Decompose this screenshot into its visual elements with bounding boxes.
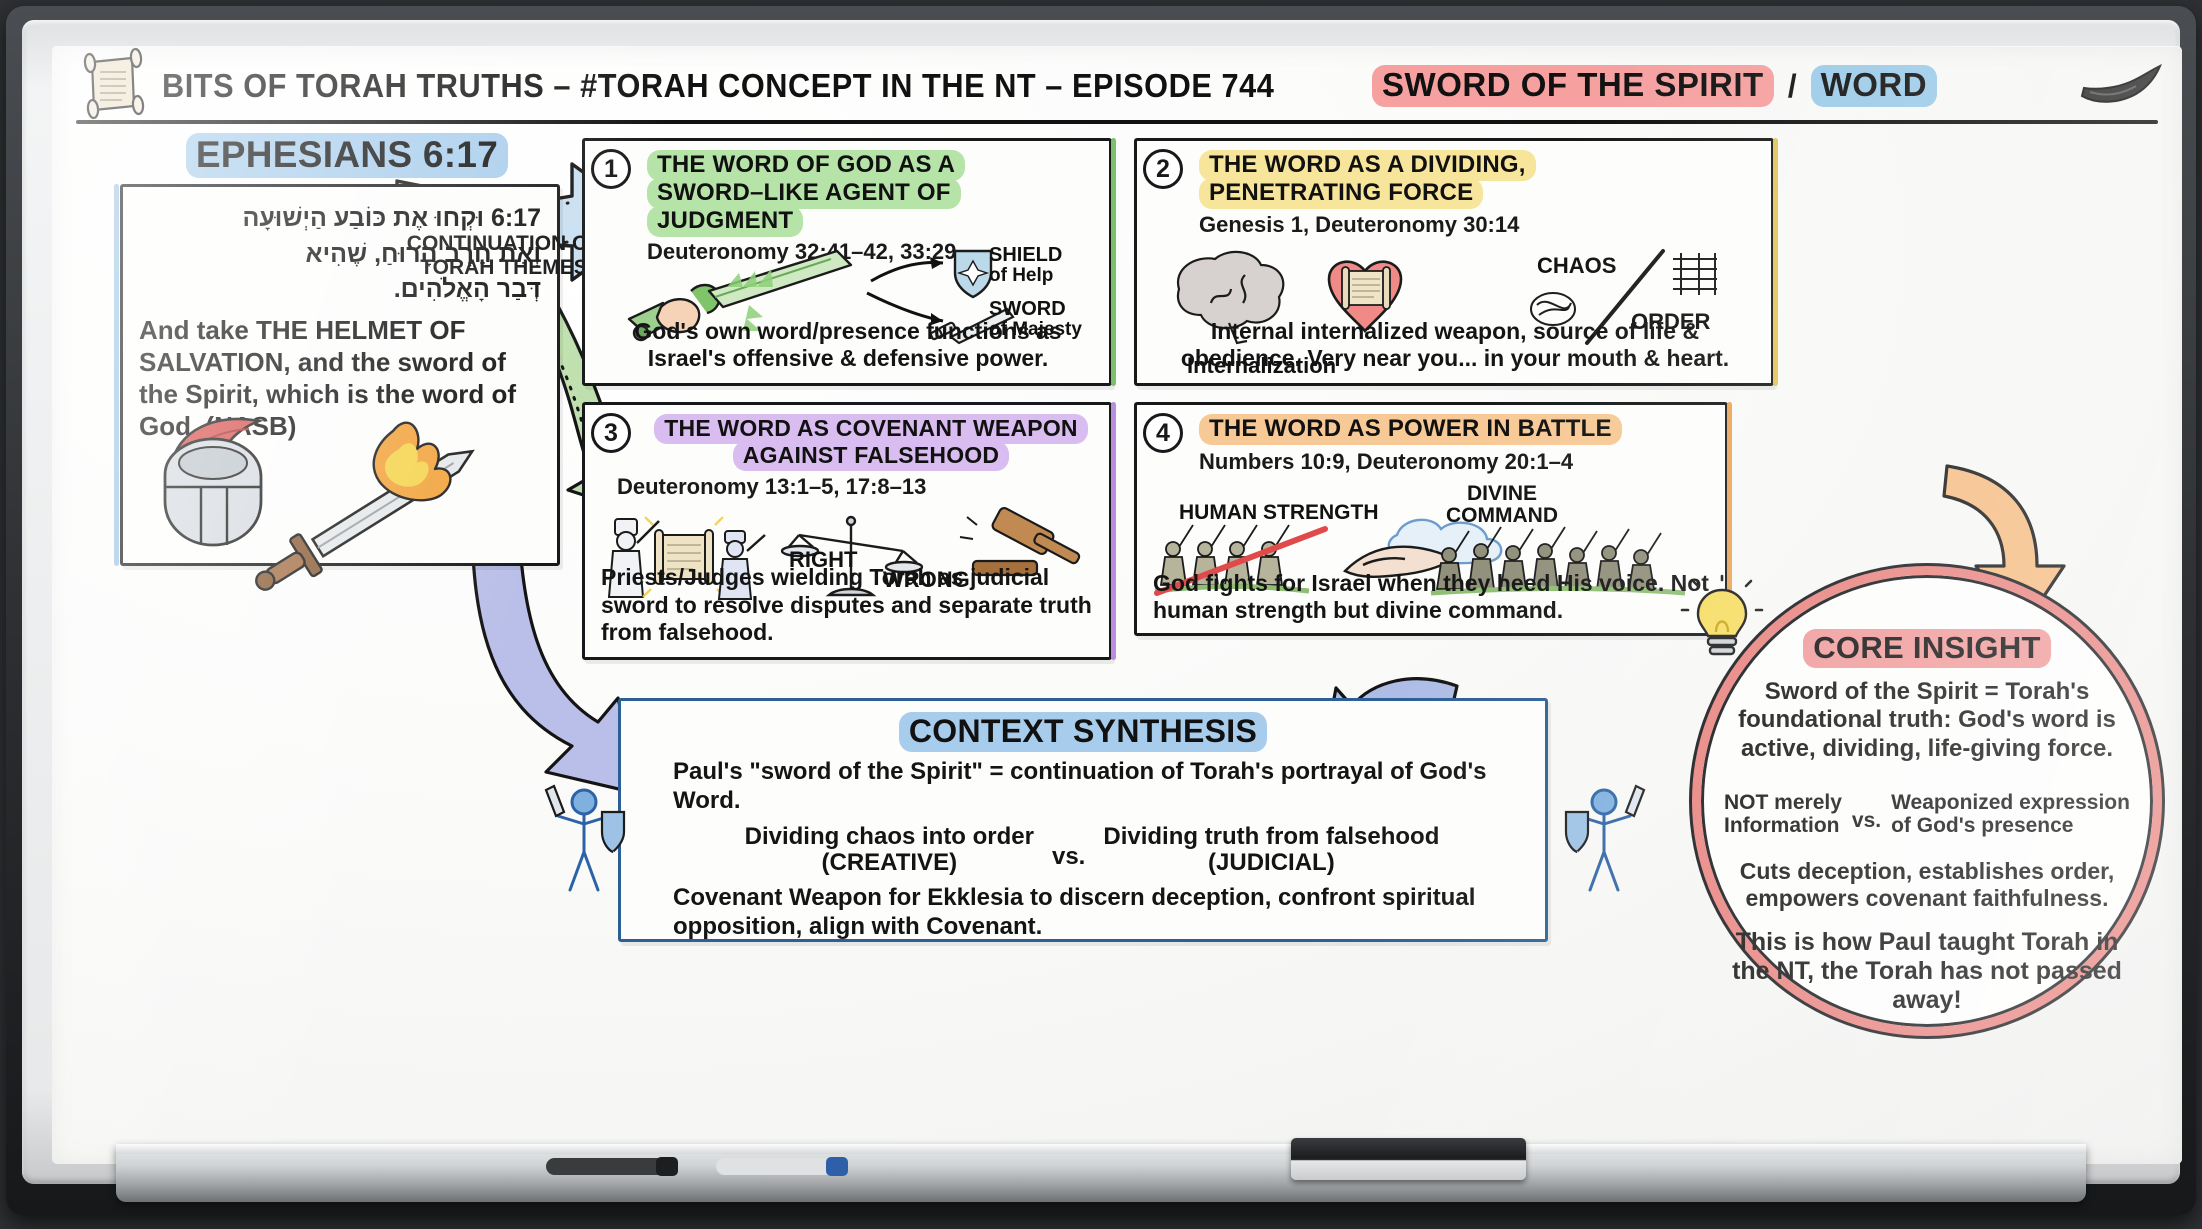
panel-2-number: 2 bbox=[1143, 149, 1183, 189]
panel-4-reference: Numbers 10:9, Deuteronomy 20:1–4 bbox=[1199, 449, 1713, 475]
panel-2-body: Internal internalized weapon, source of … bbox=[1153, 318, 1757, 373]
panel-2-title-line1: THE WORD AS A DIVIDING, bbox=[1199, 150, 1536, 181]
panel-2[interactable]: 2 THE WORD AS A DIVIDING, PENETRATING FO… bbox=[1134, 138, 1774, 386]
screenshot-root: BITS OF TORAH TRUTHS – #TORAH CONCEPT IN… bbox=[0, 0, 2202, 1229]
marker-tray bbox=[116, 1144, 2086, 1202]
scripture-block: EPHESIANS 6:17 6:17 וּקְחוּ אֶת כּוֹבַע … bbox=[112, 134, 582, 566]
panel-3-title-line1: THE WORD AS COVENANT WEAPON bbox=[654, 414, 1087, 444]
whiteboard-eraser[interactable] bbox=[1291, 1138, 1526, 1180]
panel-3-title-line2: AGAINST FALSEHOOD bbox=[733, 441, 1009, 471]
core-insight-vs-left: NOT merely Information bbox=[1724, 792, 1842, 837]
panel-1[interactable]: 1 THE WORD OF GOD AS A SWORD–LIKE AGENT … bbox=[582, 138, 1112, 386]
core-insight-comparison: NOT merely Information vs. Weaponized ex… bbox=[1708, 792, 2146, 837]
marker-black[interactable] bbox=[546, 1158, 676, 1175]
core-insight-vs-right: Weaponized expression of God's presence bbox=[1891, 792, 2130, 837]
header-title-row: BITS OF TORAH TRUTHS – #TORAH CONCEPT IN… bbox=[162, 62, 2062, 110]
context-synthesis-panel[interactable]: CONTEXT SYNTHESIS Paul's "sword of the S… bbox=[618, 698, 1548, 942]
core-insight-heading: CORE INSIGHT bbox=[1803, 629, 2051, 668]
badge-separator: / bbox=[1788, 68, 1797, 105]
helmet-and-flaming-sword-icon bbox=[131, 405, 551, 555]
core-insight-circle[interactable]: CORE INSIGHT Sword of the Spirit = Torah… bbox=[1692, 566, 2162, 1036]
tray-lip bbox=[116, 1144, 2086, 1154]
core-insight-vs-label: vs. bbox=[1852, 797, 1881, 833]
warrior-with-sword-and-shield-icon-right bbox=[1564, 786, 1646, 898]
panel-2-accent bbox=[1773, 138, 1778, 386]
panel-2-title-line2: PENETRATING FORCE bbox=[1199, 178, 1483, 209]
context-synthesis-heading: CONTEXT SYNTHESIS bbox=[899, 712, 1267, 752]
whiteboard-surface: BITS OF TORAH TRUTHS – #TORAH CONCEPT IN… bbox=[52, 46, 2182, 1164]
panel-1-title: THE WORD OF GOD AS A SWORD–LIKE AGENT OF… bbox=[647, 151, 1097, 234]
continuation-label: CONTINUATION OF TORAH THEMES bbox=[404, 232, 604, 279]
panel-1-title-line1: THE WORD OF GOD AS A bbox=[647, 150, 965, 181]
panel-2-title: THE WORD AS A DIVIDING, PENETRATING FORC… bbox=[1199, 151, 1759, 207]
header-divider bbox=[76, 120, 2158, 124]
panel-4[interactable]: 4 THE WORD AS POWER IN BATTLE Numbers 10… bbox=[1134, 402, 1728, 636]
header-bar: BITS OF TORAH TRUTHS – #TORAH CONCEPT IN… bbox=[52, 46, 2182, 124]
comparison-left: Dividing chaos into order (CREATIVE) bbox=[745, 824, 1034, 877]
panel-1-title-line2: SWORD–LIKE AGENT OF JUDGMENT bbox=[647, 178, 961, 237]
panel-3-body: Priests/Judges wielding Torah as judicia… bbox=[601, 564, 1095, 647]
panel-3[interactable]: 3 THE WORD AS COVENANT WEAPON AGAINST FA… bbox=[582, 402, 1112, 660]
badge-word: WORD bbox=[1811, 65, 1937, 107]
panel-1-label-shield: SHIELD of Help bbox=[989, 245, 1062, 286]
panel-3-number: 3 bbox=[591, 413, 631, 453]
comparison-vs: vs. bbox=[1052, 829, 1085, 871]
continuation-label-line1: CONTINUATION OF bbox=[404, 232, 604, 256]
context-synthesis-line-1: Paul's "sword of the Spirit" = continuat… bbox=[673, 758, 1527, 816]
comparison-right: Dividing truth from falsehood (JUDICIAL) bbox=[1103, 824, 1439, 877]
panel-4-number: 4 bbox=[1143, 413, 1183, 453]
panel-1-accent bbox=[1111, 138, 1116, 386]
scripture-panel-accent bbox=[114, 184, 119, 566]
context-synthesis-comparison: Dividing chaos into order (CREATIVE) vs.… bbox=[657, 824, 1527, 877]
whiteboard-bezel: BITS OF TORAH TRUTHS – #TORAH CONCEPT IN… bbox=[22, 20, 2180, 1184]
panel-4-title: THE WORD AS POWER IN BATTLE bbox=[1199, 415, 1713, 443]
page-title: BITS OF TORAH TRUTHS – #TORAH CONCEPT IN… bbox=[162, 67, 1274, 105]
panel-2-reference: Genesis 1, Deuteronomy 30:14 bbox=[1199, 212, 1759, 238]
panel-4-title-line1: THE WORD AS POWER IN BATTLE bbox=[1199, 414, 1622, 445]
context-synthesis-line-3: Covenant Weapon for Ekklesia to discern … bbox=[673, 884, 1527, 942]
warrior-with-sword-and-shield-icon-left bbox=[544, 786, 626, 898]
panel-1-body: God's own word/presence functions as Isr… bbox=[601, 318, 1095, 373]
panel-2-label-chaos: CHAOS bbox=[1537, 253, 1616, 279]
whiteboard-frame: BITS OF TORAH TRUTHS – #TORAH CONCEPT IN… bbox=[6, 6, 2196, 1216]
panel-4-label-divine-command: DIVINE COMMAND bbox=[1437, 483, 1567, 527]
marker-black-cap bbox=[656, 1157, 678, 1176]
panel-4-body: God fights for Israel when they heed His… bbox=[1153, 570, 1711, 625]
badge-sword-of-the-spirit: SWORD OF THE SPIRIT bbox=[1372, 65, 1774, 107]
panel-3-reference: Deuteronomy 13:1–5, 17:8–13 bbox=[617, 474, 1097, 500]
core-insight-line-2: Cuts deception, establishes order, empow… bbox=[1732, 858, 2122, 911]
marker-blue[interactable] bbox=[716, 1158, 846, 1175]
scripture-heading: EPHESIANS 6:17 bbox=[186, 133, 508, 178]
panel-4-label-human-strength: HUMAN STRENGTH bbox=[1179, 501, 1379, 525]
panel-3-accent bbox=[1111, 402, 1116, 660]
shofar-icon bbox=[2078, 58, 2164, 110]
torah-scroll-icon bbox=[76, 52, 148, 114]
core-insight-line-1: Sword of the Spirit = Torah's foundation… bbox=[1728, 678, 2126, 763]
panel-1-number: 1 bbox=[591, 149, 631, 189]
marker-blue-cap bbox=[826, 1157, 848, 1176]
core-insight-line-3: This is how Paul taught Torah in the NT,… bbox=[1726, 928, 2128, 1015]
continuation-label-line2: TORAH THEMES bbox=[404, 256, 604, 280]
panel-3-title: THE WORD AS COVENANT WEAPON AGAINST FALS… bbox=[645, 415, 1097, 468]
